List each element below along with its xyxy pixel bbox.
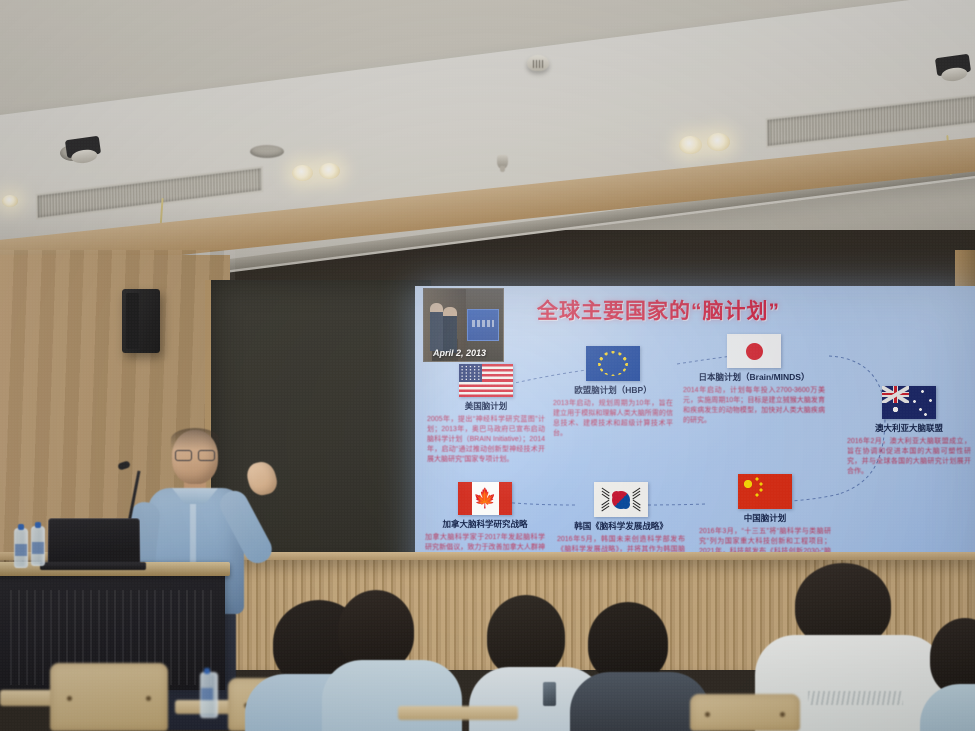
desk <box>398 706 518 720</box>
photo-date-caption: April 2, 2013 <box>433 348 486 358</box>
country-body-japan: 2014年启动，计划每年投入2700-3600万美元，实施周期10年；目标是建立… <box>683 386 825 426</box>
flag-australia <box>882 386 936 419</box>
country-name-japan: 日本脑计划（Brain/MINDS） <box>683 371 825 383</box>
country-name-usa: 美国脑计划 <box>427 400 545 412</box>
country-name-canada: 加拿大脑科学研究战略 <box>425 518 545 530</box>
country-body-australia: 2016年2月，澳大利亚大脑联盟成立，旨在协调和促进本国的大脑可塑性研究，并与全… <box>847 437 971 477</box>
photo-display-screen <box>467 309 499 341</box>
flag-canada: 🍁 <box>458 482 512 515</box>
flag-european-union <box>586 346 640 381</box>
country-name-korea: 韩国《脑科学发展战略》 <box>557 520 685 532</box>
audience-head <box>588 602 668 682</box>
security-camera-icon <box>65 136 101 159</box>
country-block-eu: 欧盟脑计划（HBP） 2013年启动，规划周期为10年，旨在建立用于模拟和理解人… <box>553 346 673 439</box>
tshirt-graphic <box>808 691 903 705</box>
presenter-hair <box>171 428 219 450</box>
wall-mounted-loudspeaker <box>122 289 160 353</box>
recessed-downlight-icon <box>292 165 313 181</box>
audience-head <box>338 590 414 670</box>
commonwealth-star <box>891 405 900 414</box>
downlight-housing <box>250 145 284 158</box>
union-jack-canton <box>882 386 909 403</box>
presenter-raised-hand <box>244 459 279 498</box>
sprinkler-head-icon <box>497 155 508 169</box>
flag-united-states <box>459 364 513 397</box>
audience-member <box>930 618 975 731</box>
chair <box>50 663 168 731</box>
taegeuk-symbol <box>612 491 630 509</box>
audience-shoulders <box>570 672 710 731</box>
water-bottle <box>14 528 28 568</box>
slide-title: 全球主要国家的“脑计划” <box>537 295 780 325</box>
country-name-china: 中国脑计划 <box>699 512 831 524</box>
country-name-australia: 澳大利亚大脑联盟 <box>847 422 971 434</box>
country-body-usa: 2005年，提出“神经科学研究蓝图”计划；2013年，奥巴马政府已宣布启动脑科学… <box>427 415 545 465</box>
chair <box>690 694 800 731</box>
smoke-detector-icon <box>527 55 549 71</box>
flag-japan <box>727 334 781 368</box>
security-camera-icon <box>935 54 971 77</box>
recessed-downlight-icon <box>319 163 340 179</box>
lecture-hall-photo: 全球主要国家的“脑计划” April 2, 2013 美国脑计划 2005年，提… <box>0 0 975 731</box>
laptop-base <box>40 562 146 570</box>
photo-person-left <box>430 303 443 351</box>
photo-person-right <box>443 307 457 353</box>
smartphone-icon <box>543 682 556 706</box>
recessed-downlight-icon <box>2 195 18 207</box>
audience-head <box>487 595 565 677</box>
large-star <box>743 479 753 489</box>
country-block-japan: 日本脑计划（Brain/MINDS） 2014年启动，计划每年投入2700-36… <box>683 334 825 426</box>
water-bottle <box>31 526 45 566</box>
country-name-eu: 欧盟脑计划（HBP） <box>553 384 673 396</box>
audience-member <box>580 602 696 731</box>
country-block-usa: 美国脑计划 2005年，提出“神经科学研究蓝图”计划；2013年，奥巴马政府已宣… <box>427 364 545 465</box>
water-bottle <box>200 672 218 718</box>
eyeglasses-icon <box>175 450 215 459</box>
laptop-computer <box>48 518 141 568</box>
country-block-australia: 澳大利亚大脑联盟 2016年2月，澳大利亚大脑联盟成立，旨在协调和促进本国的大脑… <box>847 386 971 477</box>
recessed-downlight-icon <box>679 136 702 154</box>
flag-china <box>738 474 792 509</box>
recessed-downlight-icon <box>707 133 730 151</box>
country-body-eu: 2013年启动，规划周期为10年，旨在建立用于模拟和理解人类大脑所需的信息技术、… <box>553 399 673 439</box>
flag-south-korea <box>594 482 648 517</box>
audience-shoulders <box>322 660 462 731</box>
brain-initiative-announcement-photo: April 2, 2013 <box>423 288 504 362</box>
